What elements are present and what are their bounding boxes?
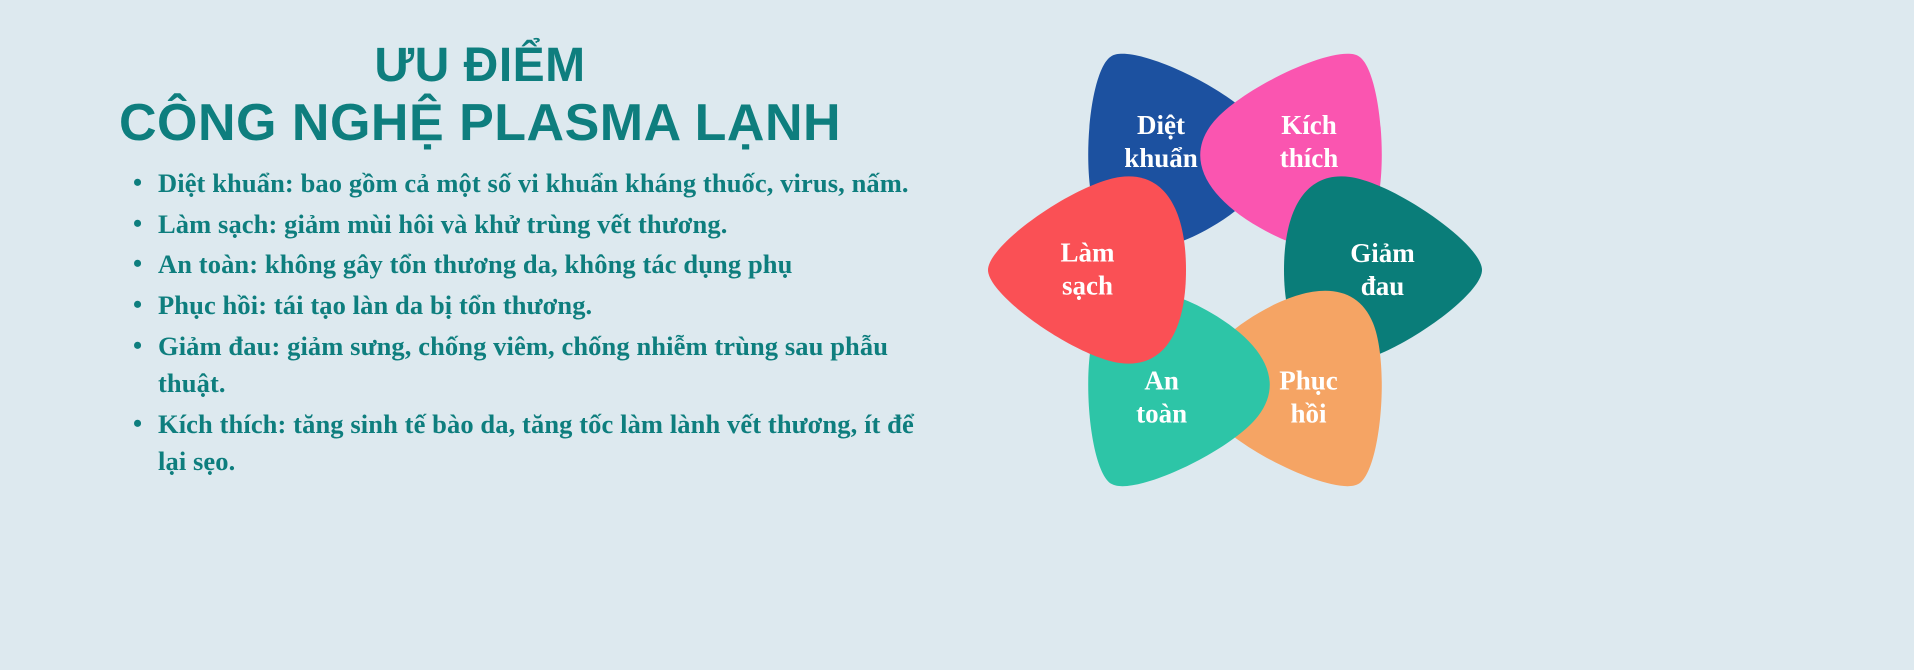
- list-item: • Kích thích: tăng sinh tế bào da, tăng …: [128, 406, 938, 481]
- bullet-dot-icon: •: [133, 406, 142, 443]
- bullet-dot-icon: •: [133, 206, 142, 243]
- list-item: • Làm sạch: giảm mùi hôi và khử trùng vế…: [128, 206, 938, 244]
- list-item-text: Diệt khuẩn: bao gồm cả một số vi khuẩn k…: [158, 168, 909, 198]
- petal-wheel-diagram: Diệt khuẩnKích thíchGiảm đauPhục hồiAn t…: [965, 0, 1505, 540]
- infographic-canvas: ƯU ĐIỂM CÔNG NGHỆ PLASMA LẠNH • Diệt khu…: [0, 0, 1914, 670]
- petal-segment[interactable]: Làm sạch: [980, 163, 1194, 377]
- benefits-list: • Diệt khuẩn: bao gồm cả một số vi khuẩn…: [128, 165, 938, 484]
- bullet-dot-icon: •: [133, 165, 142, 202]
- list-item: • Phục hồi: tái tạo làn da bị tổn thương…: [128, 287, 938, 325]
- list-item-text: Giảm đau: giảm sưng, chống viêm, chống n…: [158, 331, 888, 399]
- list-item-text: Kích thích: tăng sinh tế bào da, tăng tố…: [158, 409, 914, 477]
- list-item: • Diệt khuẩn: bao gồm cả một số vi khuẩn…: [128, 165, 938, 203]
- list-item-text: An toàn: không gây tổn thương da, không …: [158, 249, 792, 279]
- page-title: ƯU ĐIỂM CÔNG NGHỆ PLASMA LẠNH: [0, 42, 960, 150]
- list-item-text: Làm sạch: giảm mùi hôi và khử trùng vết …: [158, 209, 727, 239]
- list-item-text: Phục hồi: tái tạo làn da bị tổn thương.: [158, 290, 592, 320]
- bullet-dot-icon: •: [133, 328, 142, 365]
- text-panel: ƯU ĐIỂM CÔNG NGHỆ PLASMA LẠNH • Diệt khu…: [0, 0, 960, 670]
- title-line-1: ƯU ĐIỂM: [0, 42, 960, 91]
- bullet-dot-icon: •: [133, 246, 142, 283]
- list-item: • An toàn: không gây tổn thương da, khôn…: [128, 246, 938, 284]
- list-item: • Giảm đau: giảm sưng, chống viêm, chống…: [128, 328, 938, 403]
- title-line-2: CÔNG NGHỆ PLASMA LẠNH: [0, 97, 960, 150]
- petal-label: Làm sạch: [1060, 237, 1114, 304]
- bullet-dot-icon: •: [133, 287, 142, 324]
